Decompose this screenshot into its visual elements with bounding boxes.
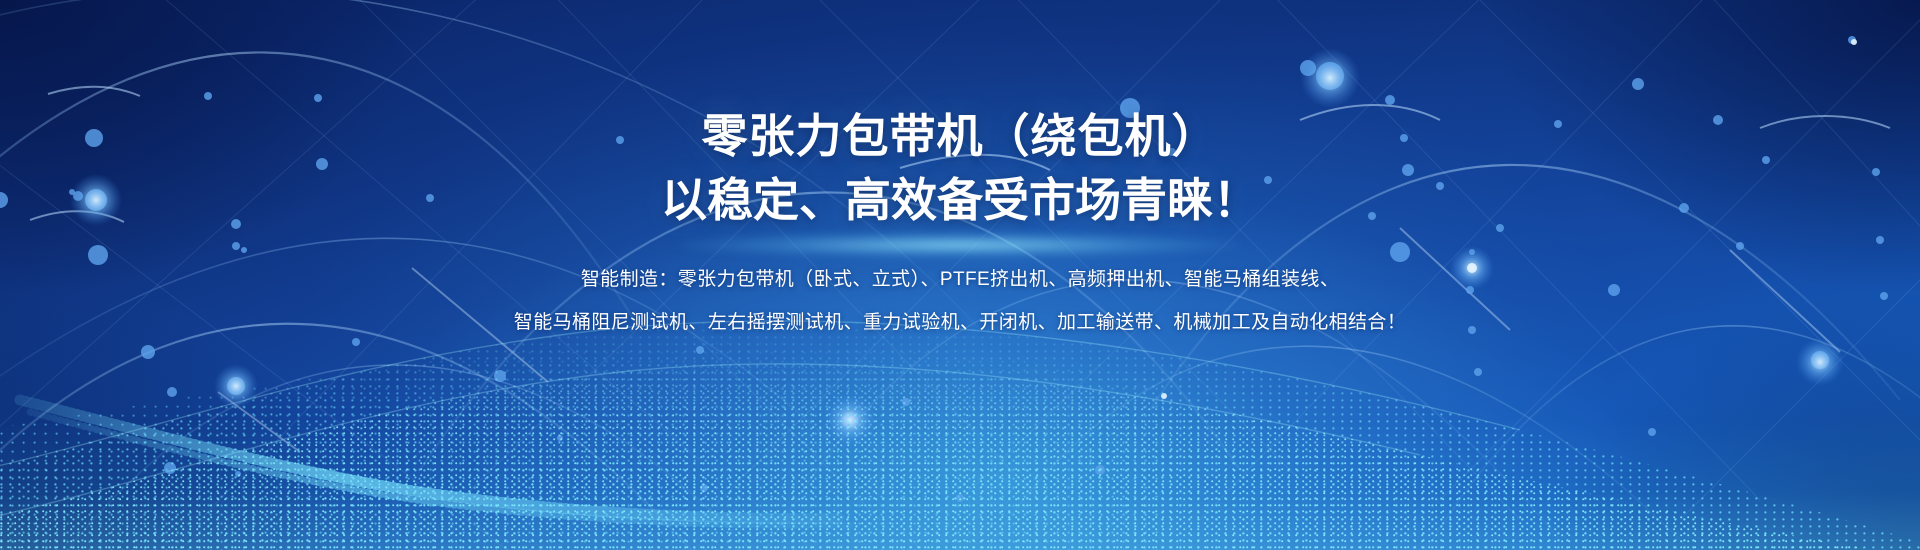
headline-line-2: 以稳定、高效备受市场青睐！ — [661, 168, 1259, 232]
subtitle-line-1: 智能制造：零张力包带机（卧式、立式）、PTFE挤出机、高频押出机、智能马桶组装线… — [514, 258, 1406, 301]
banner-subtitle: 智能制造：零张力包带机（卧式、立式）、PTFE挤出机、高频押出机、智能马桶组装线… — [514, 258, 1406, 344]
banner-headline: 零张力包带机（绕包机） 以稳定、高效备受市场青睐！ — [661, 104, 1259, 232]
subtitle-line-2: 智能马桶阻尼测试机、左右摇摆测试机、重力试验机、开闭机、加工输送带、机械加工及自… — [514, 301, 1406, 344]
banner-content: 零张力包带机（绕包机） 以稳定、高效备受市场青睐！ 智能制造：零张力包带机（卧式… — [0, 0, 1920, 550]
headline-line-1: 零张力包带机（绕包机） — [661, 104, 1259, 168]
hero-banner: 零张力包带机（绕包机） 以稳定、高效备受市场青睐！ 智能制造：零张力包带机（卧式… — [0, 0, 1920, 550]
